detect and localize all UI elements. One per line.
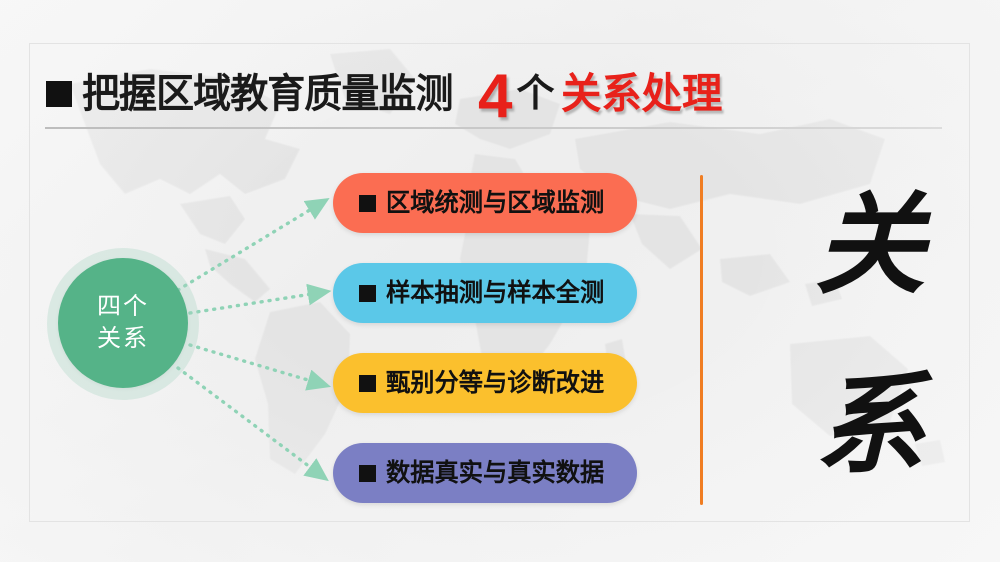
relation-item-3[interactable]: 数据真实与真实数据 (333, 443, 637, 503)
title-bullet-icon (46, 81, 72, 107)
title-red-text: 关系处理 (561, 73, 722, 115)
title-unit-text: 个 (516, 75, 554, 113)
item-label: 区域统测与区域监测 (386, 191, 604, 216)
item-bullet-icon (359, 465, 376, 482)
slide-canvas: 把握区域教育质量监测 4 个 关系处理 四个 关系 区域统测与区域监测 样本抽测… (0, 0, 1000, 562)
item-label: 样本抽测与样本全测 (386, 281, 604, 306)
circle-line-1: 四个 (97, 291, 149, 323)
item-label: 数据真实与真实数据 (386, 461, 604, 486)
title-underline (45, 127, 942, 129)
relation-item-0[interactable]: 区域统测与区域监测 (333, 173, 637, 233)
item-bullet-icon (359, 285, 376, 302)
title-number: 4 (478, 66, 512, 128)
item-label: 甄别分等与诊断改进 (386, 371, 604, 396)
title-main-text: 把握区域教育质量监测 (82, 74, 453, 114)
calligraphy-block: 关 系 (800, 190, 940, 480)
four-relations-circle: 四个 关系 (58, 258, 188, 388)
item-bullet-icon (359, 375, 376, 392)
page-title: 把握区域教育质量监测 4 个 关系处理 (46, 60, 946, 128)
calligraphy-char-1: 关 (815, 190, 925, 300)
circle-line-2: 关系 (97, 323, 149, 355)
item-bullet-icon (359, 195, 376, 212)
vertical-divider (700, 175, 703, 505)
calligraphy-char-2: 系 (815, 370, 925, 480)
relation-item-2[interactable]: 甄别分等与诊断改进 (333, 353, 637, 413)
relation-item-1[interactable]: 样本抽测与样本全测 (333, 263, 637, 323)
